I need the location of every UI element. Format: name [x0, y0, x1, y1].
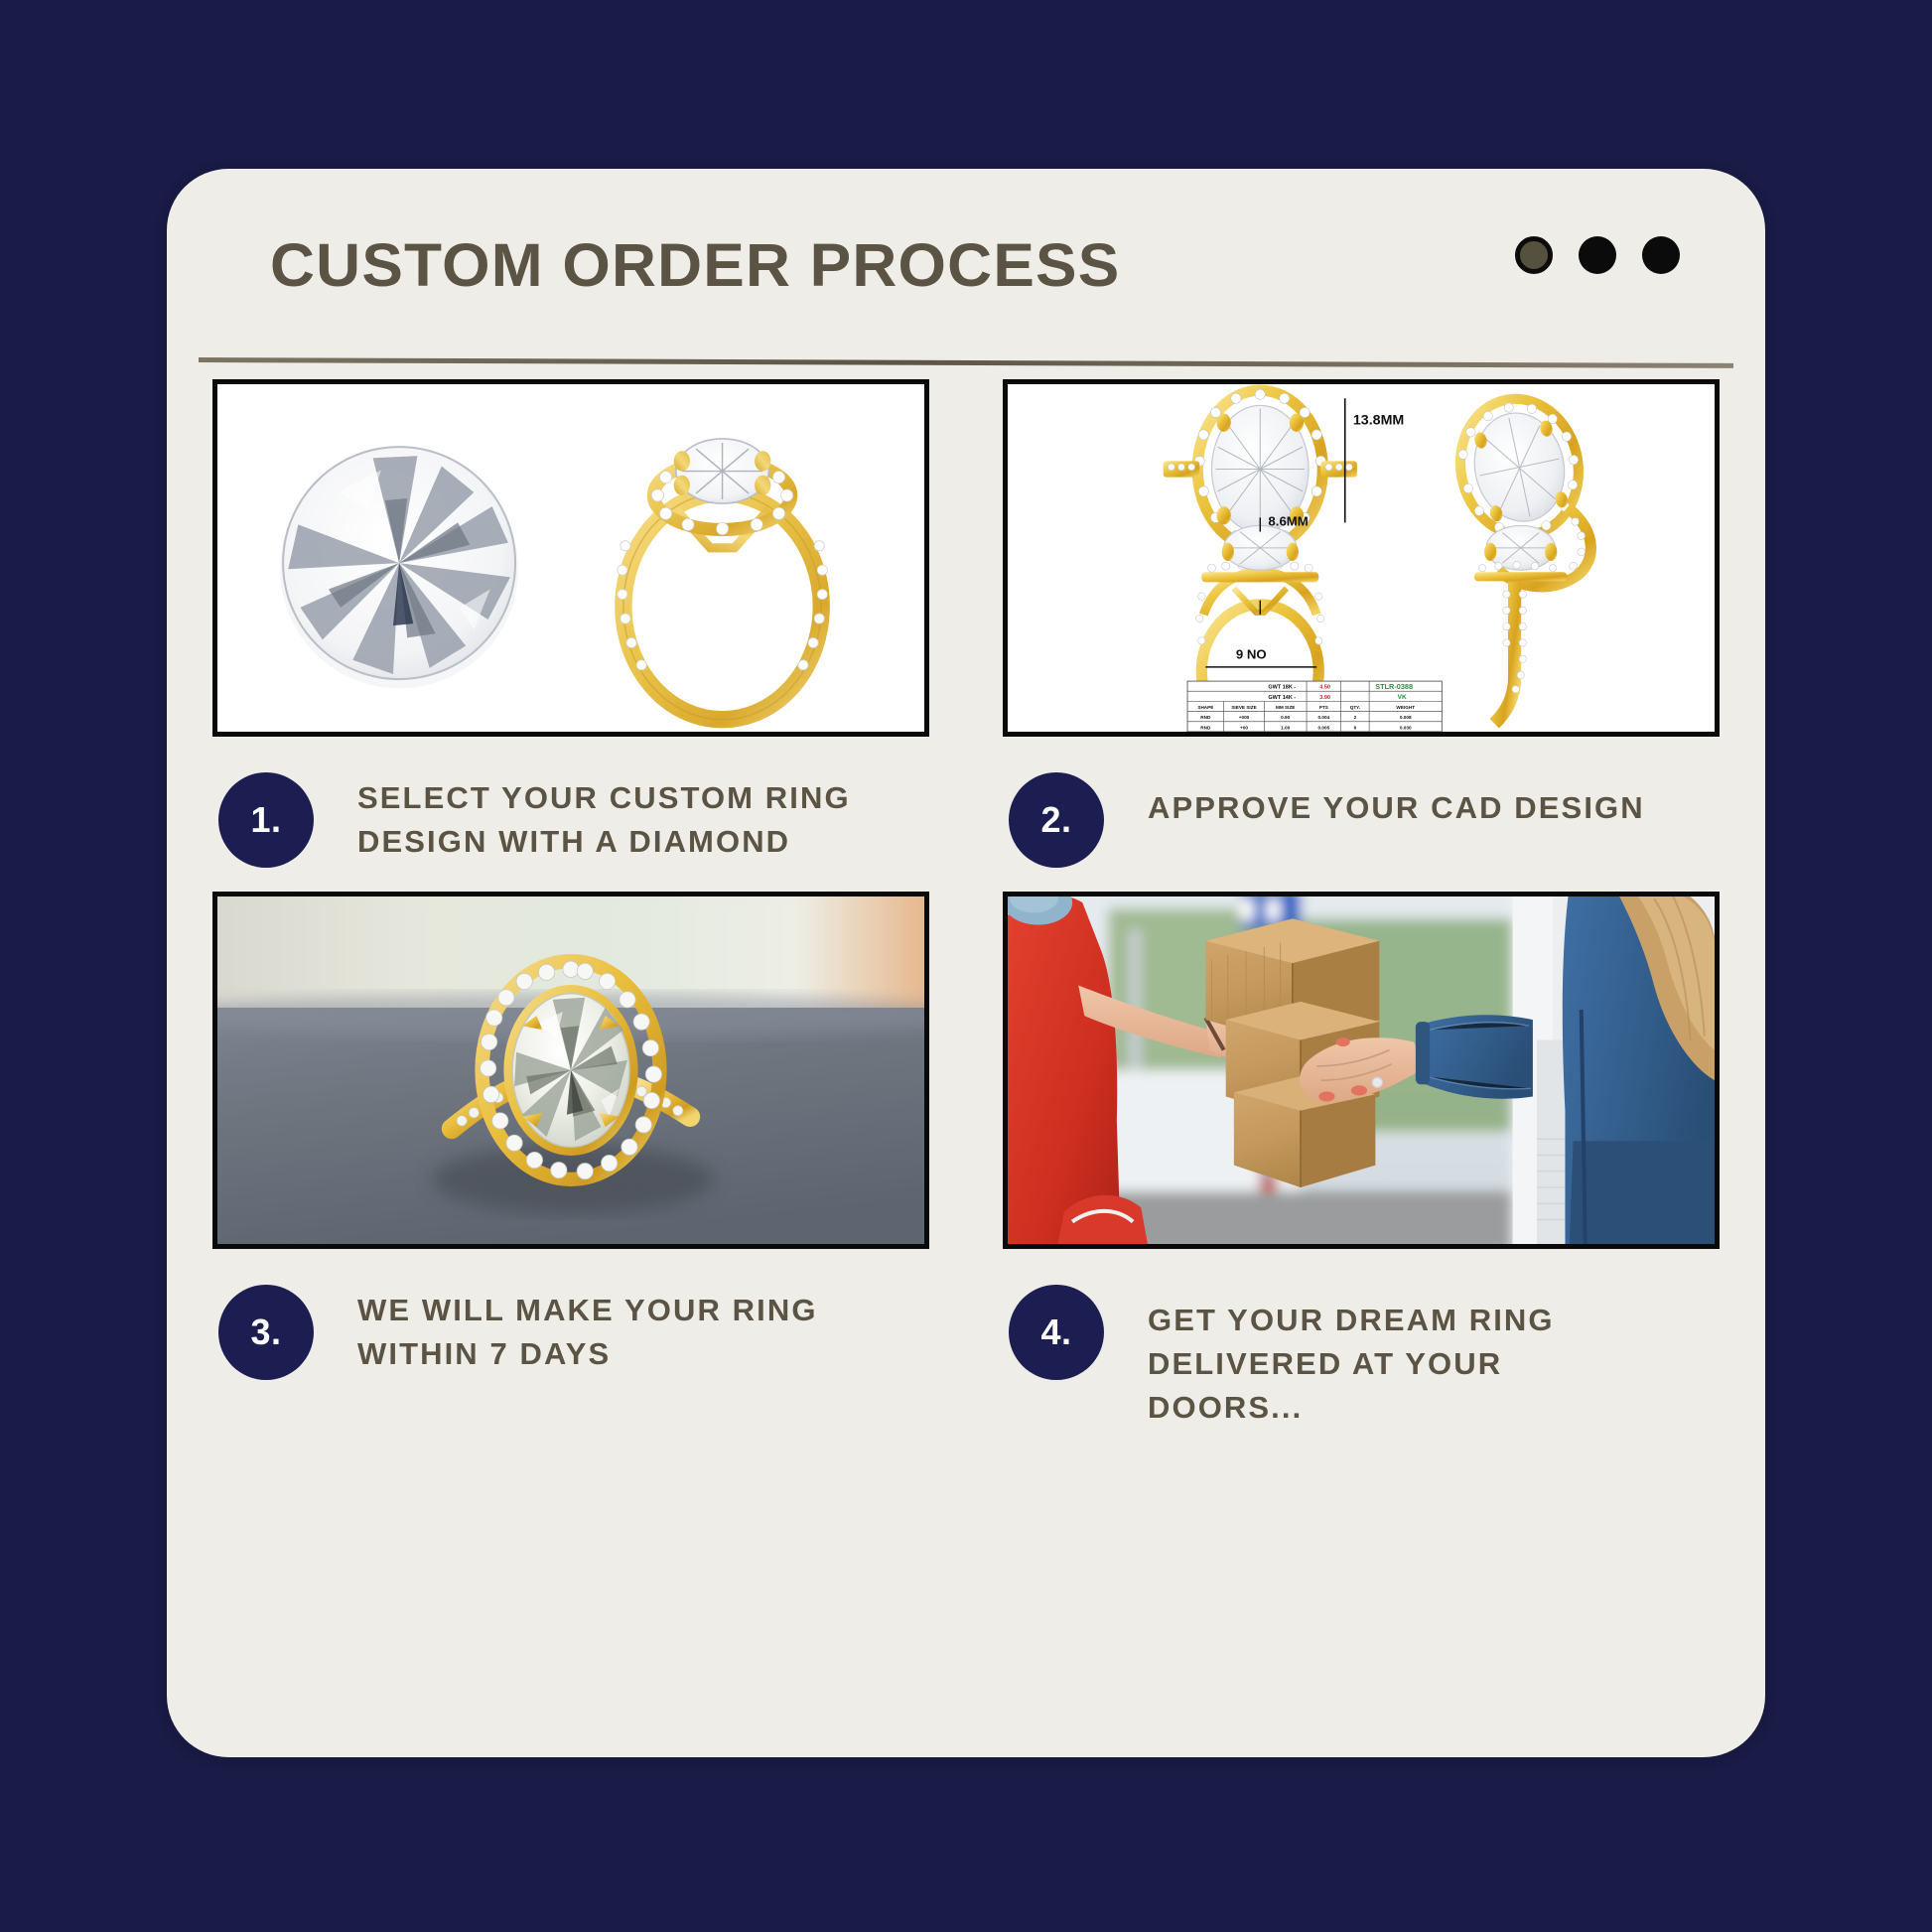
- step-item-3: 3. WE WILL MAKE YOUR RING WITHIN 7 DAYS: [212, 892, 929, 1430]
- svg-text:0.004: 0.004: [1318, 715, 1330, 720]
- step-3-image[interactable]: [212, 892, 929, 1249]
- svg-text:+000: +000: [1239, 715, 1250, 720]
- step-4-caption-row: 4. GET YOUR DREAM RING DELIVERED AT YOUR…: [1003, 1281, 1720, 1430]
- svg-text:GWT 18K -: GWT 18K -: [1268, 685, 1296, 691]
- svg-text:MM SIZE: MM SIZE: [1276, 705, 1295, 710]
- window-dot-black-2-icon[interactable]: [1642, 236, 1680, 274]
- svg-text:9 NO: 9 NO: [1236, 647, 1267, 662]
- svg-text:4.50: 4.50: [1319, 685, 1330, 691]
- step-1-caption: SELECT YOUR CUSTOM RING DESIGN WITH A DI…: [357, 768, 874, 864]
- step-3-caption: WE WILL MAKE YOUR RING WITHIN 7 DAYS: [357, 1281, 874, 1376]
- svg-text:STLR-0388: STLR-0388: [1375, 682, 1413, 691]
- step-item-4: 4. GET YOUR DREAM RING DELIVERED AT YOUR…: [1003, 892, 1720, 1430]
- svg-text:SIEVE SIZE: SIEVE SIZE: [1231, 705, 1256, 710]
- step-2-badge: 2.: [1009, 772, 1104, 868]
- step-1-badge: 1.: [218, 772, 314, 868]
- cad-spec-table: GWT 18K - GWT 14K - 4.50 3.90 STLR-0388 …: [1187, 681, 1442, 732]
- svg-text:PTS: PTS: [1319, 705, 1328, 710]
- step-item-2: 13.8MM: [1003, 379, 1720, 868]
- window-dot-black-1-icon[interactable]: [1579, 236, 1616, 274]
- customer-figure: [1563, 897, 1715, 1244]
- page-root: CUSTOM ORDER PROCESS: [0, 0, 1932, 1932]
- header-divider: [199, 357, 1733, 368]
- svg-text:0.005: 0.005: [1318, 725, 1330, 730]
- cad-drawing-illustration: 13.8MM: [1008, 384, 1715, 732]
- svg-text:0.030: 0.030: [1400, 725, 1412, 730]
- svg-text:0.008: 0.008: [1400, 715, 1412, 720]
- step-2-caption-row: 2. APPROVE YOUR CAD DESIGN: [1003, 768, 1720, 868]
- svg-text:3.90: 3.90: [1319, 695, 1330, 701]
- window-dots: [1515, 236, 1680, 274]
- step-1-caption-row: 1. SELECT YOUR CUSTOM RING DESIGN WITH A…: [212, 768, 929, 868]
- step-item-1: 1. SELECT YOUR CUSTOM RING DESIGN WITH A…: [212, 379, 929, 868]
- svg-text:RND: RND: [1200, 715, 1211, 720]
- page-title: CUSTOM ORDER PROCESS: [270, 230, 1120, 300]
- svg-text:+00: +00: [1240, 725, 1248, 730]
- steps-grid: 1. SELECT YOUR CUSTOM RING DESIGN WITH A…: [167, 379, 1765, 1430]
- delivery-handoff-photo: [1008, 897, 1715, 1244]
- step-3-badge: 3.: [218, 1285, 314, 1380]
- svg-text:VK: VK: [1398, 694, 1407, 701]
- diamond-and-ring-illustration: [217, 384, 924, 732]
- step-2-image[interactable]: 13.8MM: [1003, 379, 1720, 737]
- svg-text:QTY.: QTY.: [1350, 705, 1360, 710]
- svg-text:6: 6: [1354, 725, 1357, 730]
- card-header: CUSTOM ORDER PROCESS: [167, 169, 1765, 367]
- step-3-caption-row: 3. WE WILL MAKE YOUR RING WITHIN 7 DAYS: [212, 1281, 929, 1380]
- svg-text:8.6MM: 8.6MM: [1268, 513, 1308, 528]
- step-2-caption: APPROVE YOUR CAD DESIGN: [1148, 768, 1645, 830]
- svg-text:GWT 14K -: GWT 14K -: [1268, 695, 1296, 701]
- svg-text:13.8MM: 13.8MM: [1353, 413, 1404, 429]
- svg-text:1.00: 1.00: [1281, 725, 1290, 730]
- svg-text:2: 2: [1354, 715, 1357, 720]
- step-4-image[interactable]: [1003, 892, 1720, 1249]
- finished-ring-photo: [217, 897, 924, 1244]
- window-dot-brown-icon[interactable]: [1515, 236, 1553, 274]
- svg-text:WEIGHT: WEIGHT: [1396, 705, 1415, 710]
- step-4-caption: GET YOUR DREAM RING DELIVERED AT YOUR DO…: [1148, 1281, 1664, 1430]
- process-card: CUSTOM ORDER PROCESS: [167, 169, 1765, 1757]
- step-4-badge: 4.: [1009, 1285, 1104, 1380]
- svg-text:RND: RND: [1200, 725, 1211, 730]
- svg-text:0.90: 0.90: [1281, 715, 1290, 720]
- step-1-image[interactable]: [212, 379, 929, 737]
- svg-text:SHAPE: SHAPE: [1197, 705, 1213, 710]
